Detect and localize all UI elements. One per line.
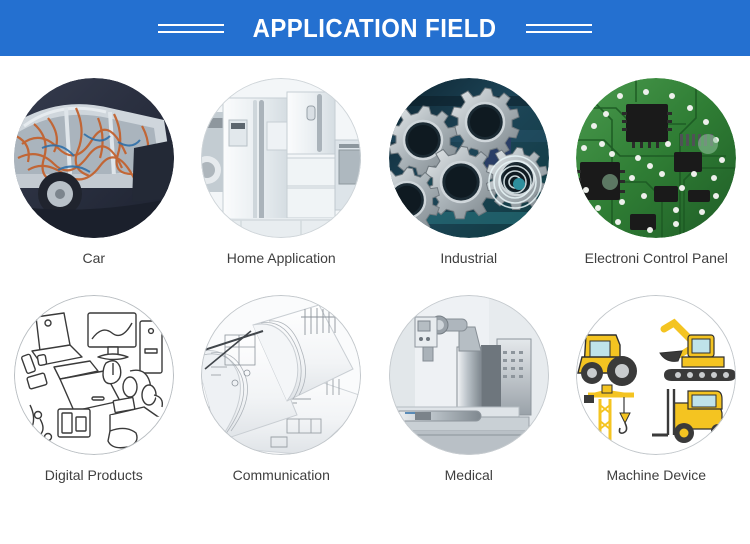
- application-item-label: Industrial: [440, 250, 497, 266]
- application-item-medical[interactable]: Medical: [375, 295, 563, 512]
- application-item-communication[interactable]: Communication: [188, 295, 376, 512]
- industrial-gears-image: [389, 78, 549, 238]
- application-item-industrial[interactable]: Industrial: [375, 78, 563, 295]
- pcb-control-panel-image: [576, 78, 736, 238]
- application-item-label: Machine Device: [606, 467, 706, 483]
- double-line-icon-right: [526, 24, 592, 33]
- application-item-digital-products[interactable]: Digital Products: [0, 295, 188, 512]
- blueprint-rolls-image: [201, 295, 361, 455]
- application-item-label: Electroni Control Panel: [585, 250, 728, 266]
- construction-machinery-image: [576, 295, 736, 455]
- application-item-label: Digital Products: [45, 467, 143, 483]
- application-item-label: Medical: [445, 467, 493, 483]
- digital-products-lineart-image: [14, 295, 174, 455]
- application-field-grid: Car: [0, 56, 750, 512]
- application-item-label: Home Application: [227, 250, 336, 266]
- page-title: APPLICATION FIELD: [253, 13, 497, 44]
- application-item-label: Communication: [233, 467, 330, 483]
- double-line-icon-left: [158, 24, 224, 33]
- home-appliances-image: [201, 78, 361, 238]
- application-item-car[interactable]: Car: [0, 78, 188, 295]
- car-wiring-harness-image: [14, 78, 174, 238]
- application-item-home-application[interactable]: Home Application: [188, 78, 376, 295]
- page-header-banner: APPLICATION FIELD: [0, 0, 750, 56]
- medical-xray-machine-image: [389, 295, 549, 455]
- application-item-machine-device[interactable]: Machine Device: [563, 295, 750, 512]
- application-item-electroni-control-panel[interactable]: Electroni Control Panel: [563, 78, 750, 295]
- application-item-label: Car: [82, 250, 105, 266]
